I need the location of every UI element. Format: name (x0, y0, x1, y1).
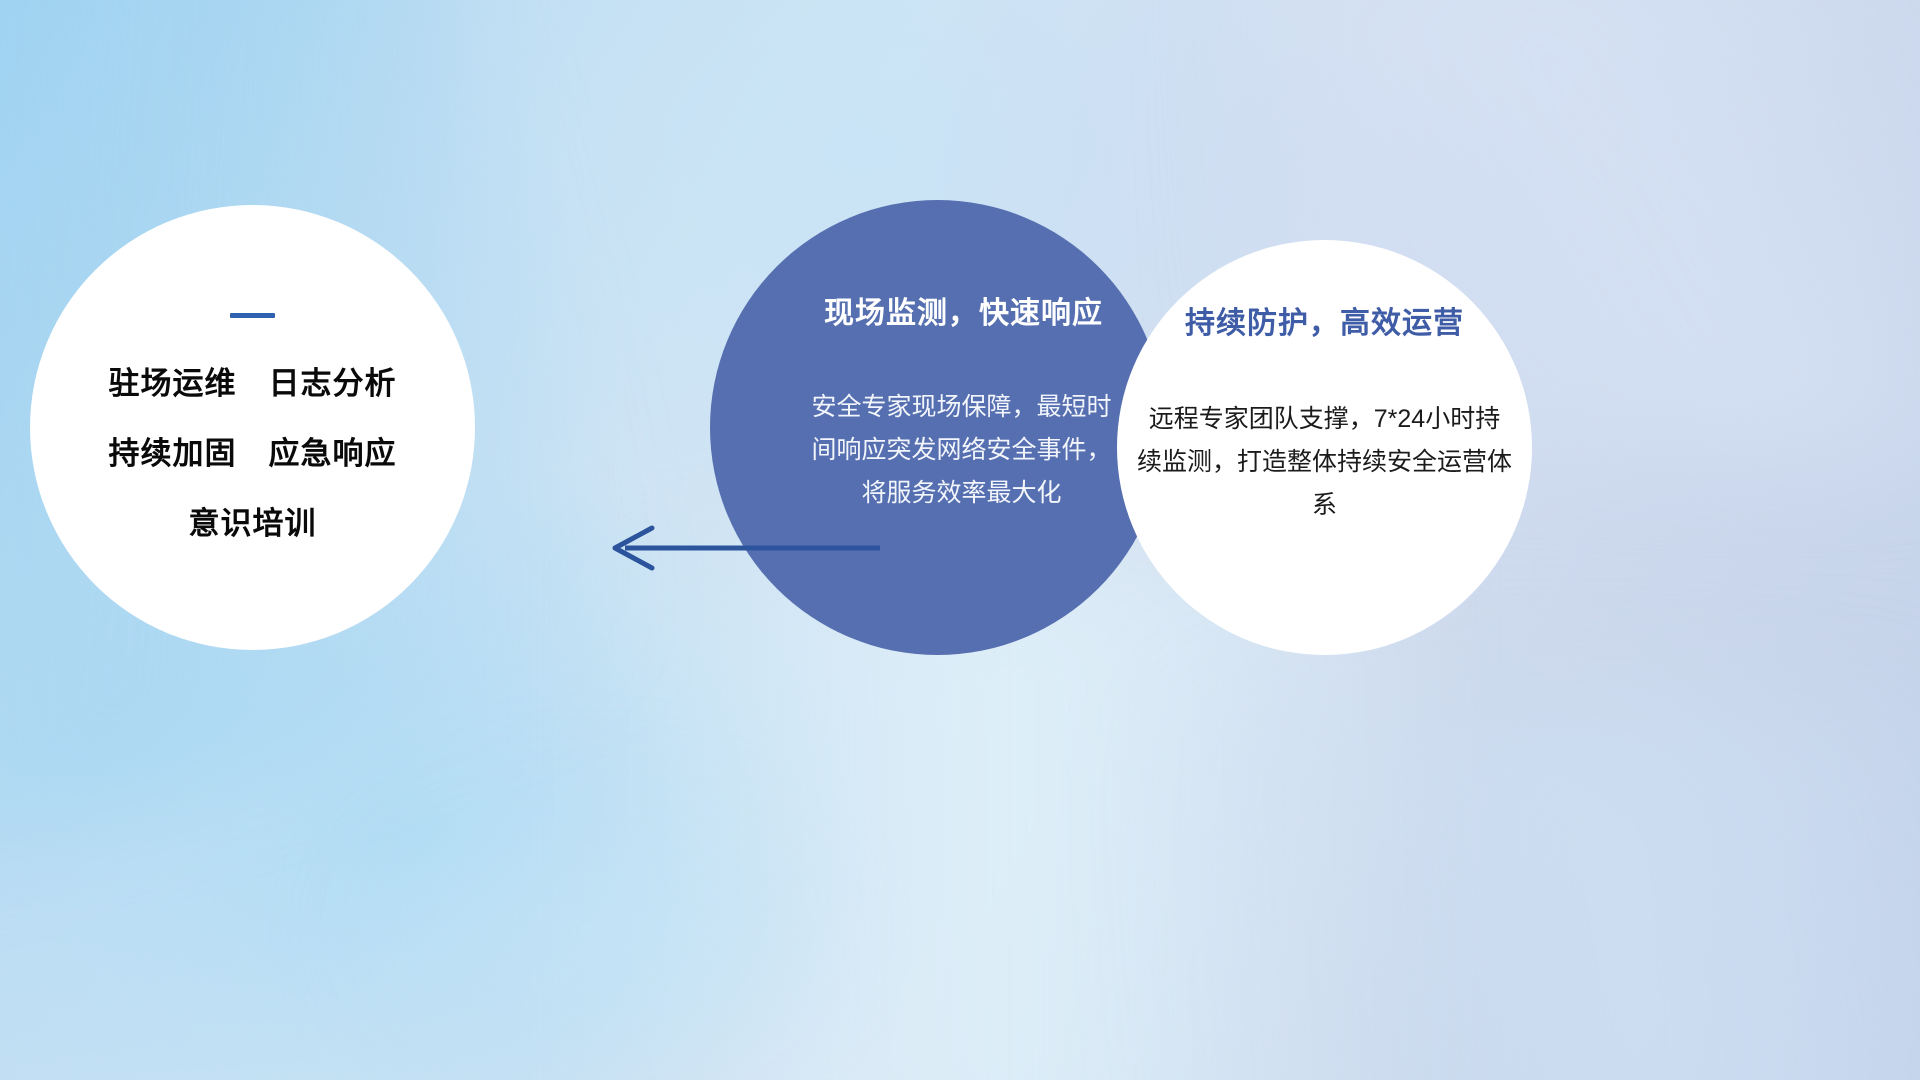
continuous-protection-title: 持续防护，高效运营 (1185, 298, 1464, 342)
diagram-canvas: 现场监测，快速响应 安全专家现场保障，最短时间响应突发网络安全事件，将服务效率最… (0, 0, 1920, 1080)
capability-tag-row: 持续加固 应急响应 (109, 428, 397, 473)
capability-tag: 应急响应 (269, 428, 397, 473)
horizontal-rule-icon (230, 313, 275, 318)
capability-tag: 持续加固 (109, 428, 237, 473)
capability-tag: 意识培训 (189, 498, 317, 543)
capabilities-circle: 驻场运维 日志分析 持续加固 应急响应 意识培训 (30, 205, 475, 650)
capability-tag-list: 驻场运维 日志分析 持续加固 应急响应 意识培训 (109, 358, 397, 543)
capability-tag: 日志分析 (269, 358, 397, 403)
onsite-monitoring-title: 现场监测，快速响应 (824, 288, 1103, 332)
continuous-protection-content: 持续防护，高效运营 远程专家团队支撑，7*24小时持续监测，打造整体持续安全运营… (1117, 240, 1532, 655)
onsite-monitoring-circle: 现场监测，快速响应 安全专家现场保障，最短时间响应突发网络安全事件，将服务效率最… (710, 200, 1165, 655)
continuous-protection-circle: 持续防护，高效运营 远程专家团队支撑，7*24小时持续监测，打造整体持续安全运营… (1117, 240, 1532, 655)
arrow-left-icon (615, 528, 652, 568)
capability-tag-row: 意识培训 (189, 498, 317, 543)
onsite-monitoring-content: 现场监测，快速响应 安全专家现场保障，最短时间响应突发网络安全事件，将服务效率最… (710, 200, 1165, 655)
continuous-protection-body: 远程专家团队支撑，7*24小时持续监测，打造整体持续安全运营体系 (1137, 398, 1512, 527)
background-light-streak (330, 760, 850, 1080)
capability-tag: 驻场运维 (109, 358, 237, 403)
background-light-streak (1180, 700, 1920, 1080)
onsite-monitoring-body: 安全专家现场保障，最短时间响应突发网络安全事件，将服务效率最大化 (812, 386, 1112, 515)
capability-tag-row: 驻场运维 日志分析 (109, 358, 397, 403)
